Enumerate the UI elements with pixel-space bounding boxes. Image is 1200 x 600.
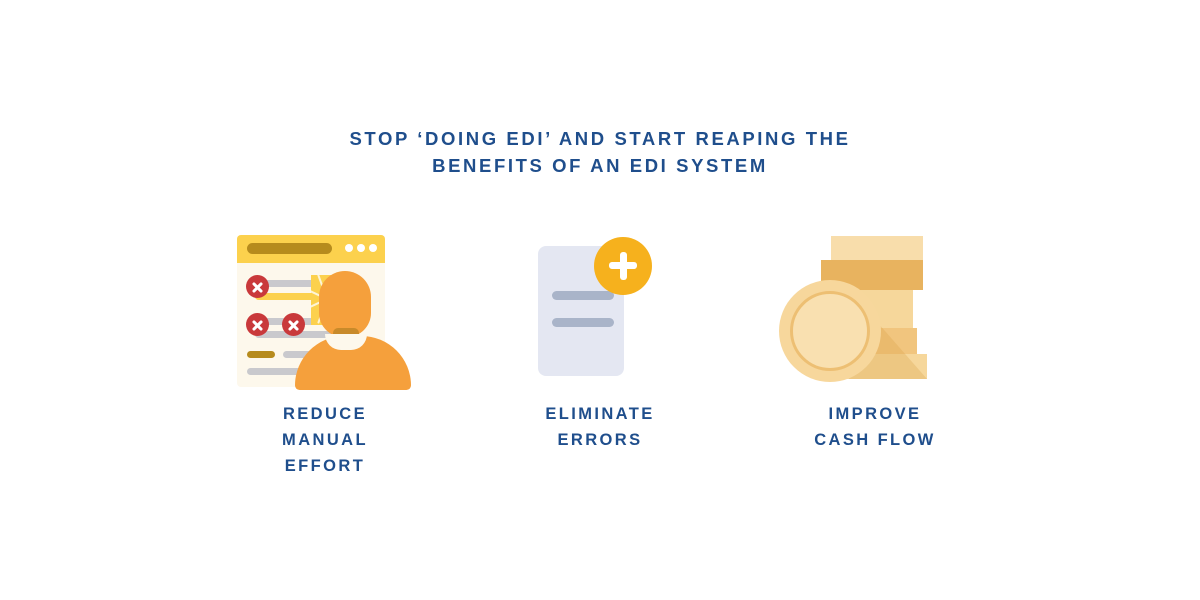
browser-dot-icon bbox=[357, 244, 365, 252]
page-title-line-2: BENEFITS OF AN EDI SYSTEM bbox=[0, 153, 1200, 180]
browser-dot-icon bbox=[345, 244, 353, 252]
benefit-caption: ELIMINATE ERRORS bbox=[545, 401, 654, 453]
document-text-line bbox=[552, 291, 614, 300]
benefit-caption-line: REDUCE bbox=[282, 401, 368, 427]
benefit-caption-line: MANUAL bbox=[282, 427, 368, 453]
coin-stack-icon bbox=[775, 228, 975, 393]
document-text-line bbox=[552, 318, 614, 327]
coin-stack-layer bbox=[831, 236, 923, 260]
infographic-canvas: STOP ‘DOING EDI’ AND START REAPING THE B… bbox=[0, 0, 1200, 600]
benefit-caption-line: CASH FLOW bbox=[814, 427, 936, 453]
benefit-caption-line: ERRORS bbox=[545, 427, 654, 453]
benefit-caption: REDUCE MANUAL EFFORT bbox=[282, 401, 368, 479]
coin-front-inner-ring bbox=[790, 291, 870, 371]
benefit-caption-line: IMPROVE bbox=[814, 401, 936, 427]
benefits-row: REDUCE MANUAL EFFORT ELIMINATE ERRORS bbox=[200, 228, 1000, 488]
browser-content-line bbox=[247, 351, 275, 358]
benefit-item-improve-cash-flow: IMPROVE CASH FLOW bbox=[750, 228, 1000, 453]
browser-errors-person-icon bbox=[225, 228, 425, 393]
error-x-icon bbox=[246, 275, 269, 298]
error-x-icon bbox=[282, 313, 305, 336]
browser-address-bar bbox=[247, 243, 332, 254]
page-title: STOP ‘DOING EDI’ AND START REAPING THE B… bbox=[0, 126, 1200, 179]
page-title-line-1: STOP ‘DOING EDI’ AND START REAPING THE bbox=[0, 126, 1200, 153]
browser-dot-icon bbox=[369, 244, 377, 252]
benefit-item-reduce-manual-effort: REDUCE MANUAL EFFORT bbox=[200, 228, 450, 479]
error-x-icon bbox=[246, 313, 269, 336]
benefit-caption-line: ELIMINATE bbox=[545, 401, 654, 427]
benefit-caption: IMPROVE CASH FLOW bbox=[814, 401, 936, 453]
benefit-item-eliminate-errors: ELIMINATE ERRORS bbox=[475, 228, 725, 453]
benefit-caption-line: EFFORT bbox=[282, 453, 368, 479]
plus-icon bbox=[620, 252, 627, 280]
document-plus-icon bbox=[500, 228, 700, 393]
